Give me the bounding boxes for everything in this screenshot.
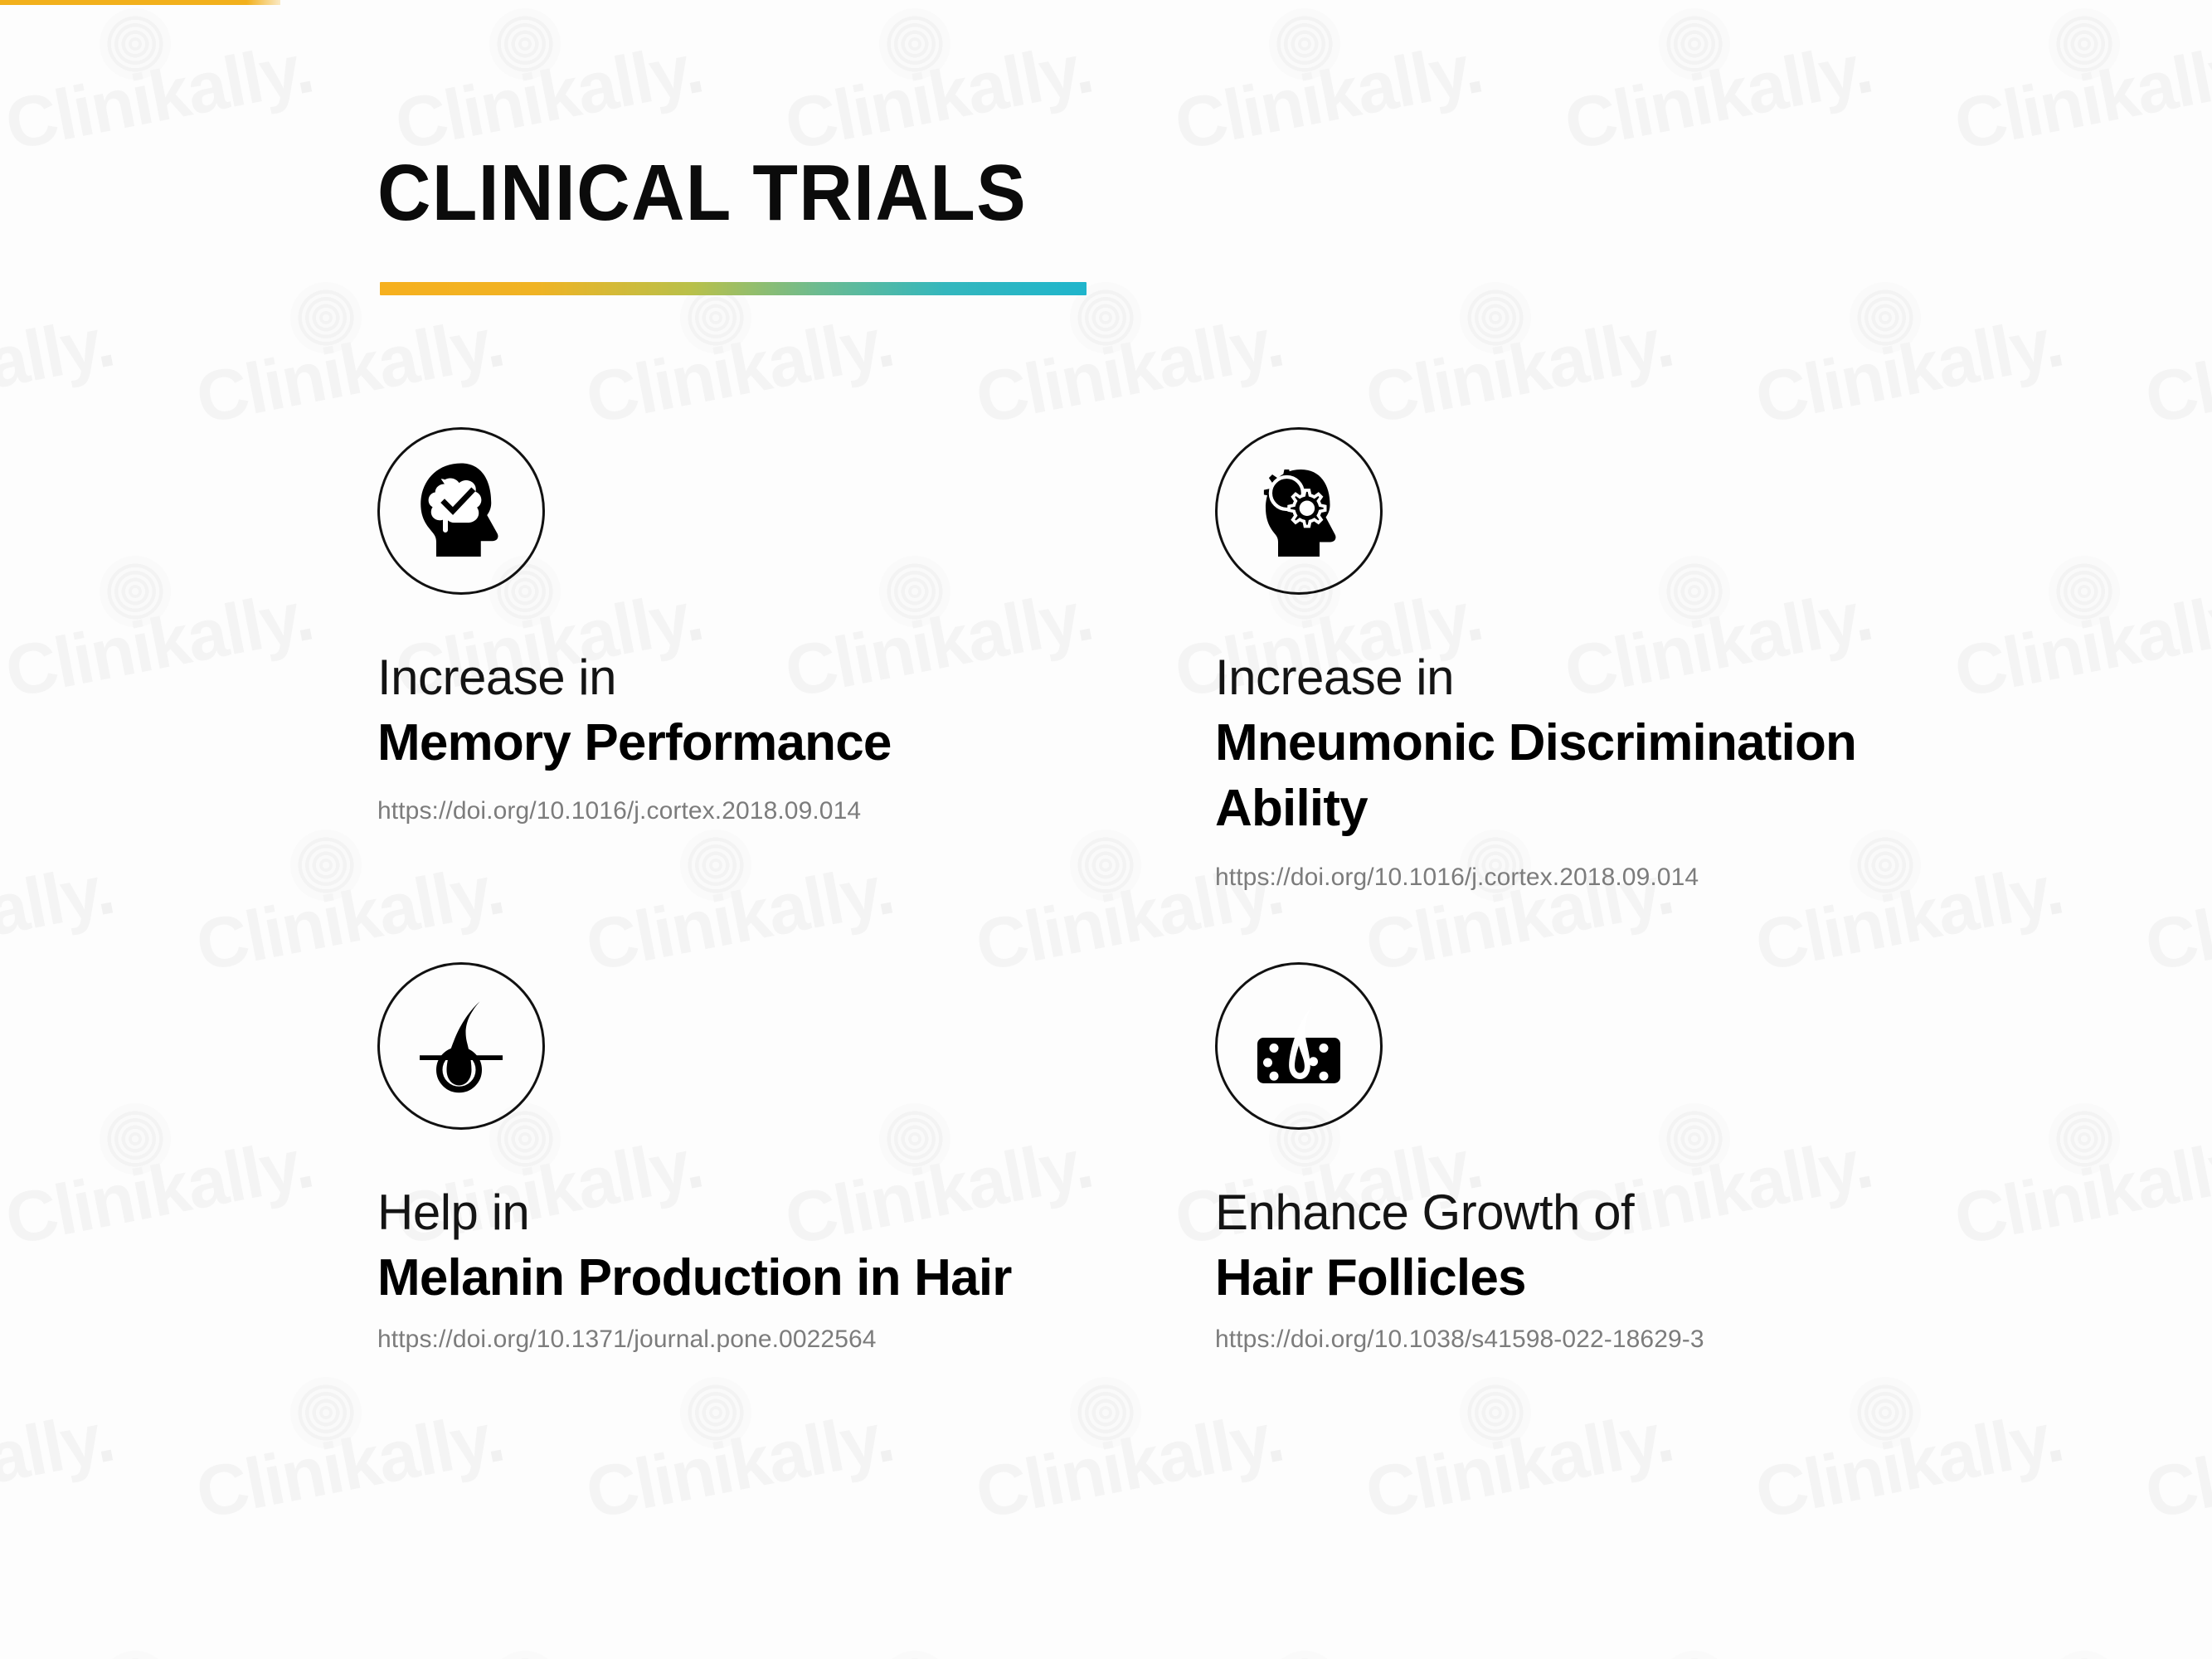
watermark-logo-mark [1263, 1645, 1347, 1659]
card-eyebrow: Help in [377, 1181, 1215, 1245]
watermark-text: Clinikally. [970, 1401, 1288, 1530]
hair-follicle-icon [377, 962, 545, 1130]
watermark-logo-mark [1653, 2, 1737, 86]
watermark-logo-mark [2043, 550, 2127, 634]
watermark-logo-mark [284, 1371, 368, 1455]
watermark-logo-mark [284, 276, 368, 360]
watermark-logo-mark [1454, 276, 1538, 360]
watermark-logo-mark [1064, 1371, 1148, 1455]
card-eyebrow: Increase in [1215, 646, 1887, 710]
card-heading: Mneumonic Discrimination Ability [1215, 710, 1887, 842]
watermark-logo-mark [1653, 1645, 1737, 1659]
watermark-text: Clinikally. [191, 306, 508, 435]
watermark-text: Clinikally. [2140, 1401, 2212, 1530]
title-underline-rule [380, 282, 1087, 295]
watermark-logo-mark [2043, 1645, 2127, 1659]
watermark-logo-mark [484, 2, 567, 86]
watermark-text: Clinikally. [0, 306, 119, 435]
watermark-text: Clinikally. [1949, 32, 2212, 162]
watermark-text: Clinikally. [390, 32, 707, 162]
watermark-text: Clinikally. [0, 580, 318, 709]
trial-card-memory-performance: Increase in Memory Performance https://d… [377, 427, 1215, 962]
watermark-logo-mark [674, 1371, 758, 1455]
watermark-text: Clinikally. [1949, 1127, 2212, 1257]
head-gears-icon [1215, 427, 1383, 595]
watermark-text: Clinikally. [1360, 1401, 1678, 1530]
watermark-text: Clinikally. [2140, 306, 2212, 435]
card-doi-link[interactable]: https://doi.org/10.1371/journal.pone.002… [377, 1326, 1215, 1354]
card-doi-link[interactable]: https://doi.org/10.1038/s41598-022-18629… [1215, 1326, 1887, 1354]
card-heading: Hair Follicles [1215, 1245, 1887, 1311]
trial-card-melanin-production: Help in Melanin Production in Hair https… [377, 962, 1215, 1354]
watermark-text: Clinikally. [1169, 32, 1487, 162]
watermark-text: Clinikally. [0, 1127, 318, 1257]
watermark-text: Clinikally. [1949, 580, 2212, 709]
card-eyebrow: Enhance Growth of [1215, 1181, 1887, 1245]
card-heading: Melanin Production in Hair [377, 1245, 1057, 1311]
top-accent-bar [0, 0, 280, 5]
watermark-text: Clinikally. [1750, 306, 2068, 435]
watermark-text: Clinikally. [191, 1401, 508, 1530]
card-doi-link[interactable]: https://doi.org/10.1016/j.cortex.2018.09… [1215, 864, 1887, 892]
clinical-trials-slide: Clinikally.Clinikally.Clinikally.Clinika… [0, 0, 2212, 1659]
watermark-logo-mark [94, 2, 177, 86]
watermark-text: Clinikally. [1559, 32, 1877, 162]
watermark-logo-mark [94, 550, 177, 634]
watermark-logo-mark [1454, 1371, 1538, 1455]
watermark-text: Clinikally. [1360, 306, 1678, 435]
card-heading: Memory Performance [377, 710, 1057, 776]
watermark-logo-mark [873, 1645, 957, 1659]
watermark-text: Clinikally. [1750, 1401, 2068, 1530]
hair-follicle-skin-icon [1215, 962, 1383, 1130]
watermark-logo-mark [484, 1645, 567, 1659]
watermark-logo-mark [1844, 1371, 1928, 1455]
watermark-text: Clinikally. [581, 1401, 898, 1530]
clinical-trials-grid: Increase in Memory Performance https://d… [377, 427, 1887, 1354]
watermark-text: Clinikally. [2140, 854, 2212, 983]
trial-card-hair-follicles: Enhance Growth of Hair Follicles https:/… [1215, 962, 1887, 1354]
watermark-logo-mark [2043, 1097, 2127, 1181]
head-brain-check-icon [377, 427, 545, 595]
watermark-text: Clinikally. [0, 854, 119, 983]
card-doi-link[interactable]: https://doi.org/10.1016/j.cortex.2018.09… [377, 797, 1215, 825]
watermark-text: Clinikally. [0, 32, 318, 162]
watermark-logo-mark [1263, 2, 1347, 86]
watermark-logo-mark [94, 1097, 177, 1181]
watermark-text: Clinikally. [780, 32, 1097, 162]
page-title: CLINICAL TRIALS [377, 153, 1027, 233]
watermark-text: Clinikally. [581, 306, 898, 435]
watermark-logo-mark [873, 2, 957, 86]
watermark-logo-mark [2043, 2, 2127, 86]
watermark-text: Clinikally. [970, 306, 1288, 435]
watermark-logo-mark [1844, 276, 1928, 360]
trial-card-mnemonic-discrimination: Increase in Mneumonic Discrimination Abi… [1215, 427, 1887, 962]
watermark-text: Clinikally. [0, 1401, 119, 1530]
watermark-logo-mark [284, 824, 368, 907]
watermark-logo-mark [94, 1645, 177, 1659]
card-eyebrow: Increase in [377, 646, 1215, 710]
